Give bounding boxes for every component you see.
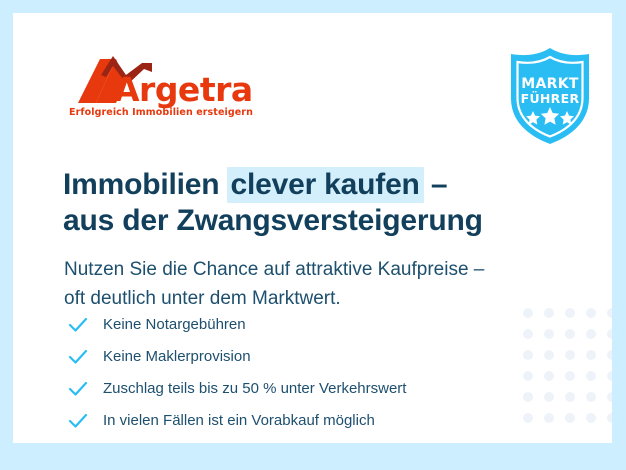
list-item-label: Keine Maklerprovision xyxy=(103,347,251,367)
check-icon xyxy=(68,411,88,431)
subheading: Nutzen Sie die Chance auf attraktive Kau… xyxy=(64,255,584,313)
subheading-line-1: Nutzen Sie die Chance auf attraktive Kau… xyxy=(64,255,584,284)
decorative-dot xyxy=(565,371,575,381)
markt-fuehrer-badge: MARKT FÜHRER xyxy=(505,46,595,146)
list-item: Keine Maklerprovision xyxy=(68,341,538,373)
list-item-label: Zuschlag teils bis zu 50 % unter Verkehr… xyxy=(103,379,406,399)
shield-badge-icon: MARKT FÜHRER xyxy=(505,46,595,146)
logo-wordmark: Argetra xyxy=(114,73,253,106)
decorative-dot xyxy=(607,329,612,339)
decorative-dot xyxy=(586,329,596,339)
badge-line2: FÜHRER xyxy=(521,91,580,106)
decorative-dot xyxy=(586,371,596,381)
decorative-dot xyxy=(544,350,554,360)
list-item: Keine Notargebühren xyxy=(68,309,538,341)
headline-line-2: aus der Zwangsversteigerung xyxy=(63,203,583,239)
headline-pre: Immobilien xyxy=(63,168,228,201)
decorative-dot xyxy=(565,329,575,339)
decorative-dot xyxy=(586,308,596,318)
decorative-dot xyxy=(586,350,596,360)
decorative-dot xyxy=(565,392,575,402)
promo-banner: Argetra Erfolgreich Immobilien ersteiger… xyxy=(0,0,626,470)
decorative-dot xyxy=(607,350,612,360)
decorative-dot xyxy=(607,413,612,423)
decorative-dot xyxy=(544,329,554,339)
banner-card: Argetra Erfolgreich Immobilien ersteiger… xyxy=(13,13,612,443)
decorative-dot xyxy=(586,392,596,402)
headline: Immobilien clever kaufen – aus der Zwang… xyxy=(63,167,583,239)
decorative-dot xyxy=(586,413,596,423)
decorative-dot xyxy=(544,413,554,423)
decorative-dot xyxy=(544,371,554,381)
check-icon xyxy=(68,347,88,367)
headline-post: – xyxy=(423,168,448,201)
decorative-dot xyxy=(607,371,612,381)
benefit-list: Keine Notargebühren Keine Maklerprovisio… xyxy=(68,309,538,437)
argetra-logo[interactable]: Argetra Erfolgreich Immobilien ersteiger… xyxy=(68,53,268,123)
list-item-label: In vielen Fällen ist ein Vorabkauf mögli… xyxy=(103,411,375,431)
decorative-dot xyxy=(607,392,612,402)
badge-line1: MARKT xyxy=(521,76,579,92)
check-icon xyxy=(68,379,88,399)
list-item-label: Keine Notargebühren xyxy=(103,315,246,335)
check-icon xyxy=(68,315,88,335)
decorative-dot xyxy=(565,350,575,360)
logo-tagline: Erfolgreich Immobilien ersteigern xyxy=(69,107,253,118)
list-item: Zuschlag teils bis zu 50 % unter Verkehr… xyxy=(68,373,538,405)
decorative-dot xyxy=(565,413,575,423)
decorative-dot xyxy=(607,308,612,318)
headline-line-1: Immobilien clever kaufen – xyxy=(63,167,583,203)
list-item: In vielen Fällen ist ein Vorabkauf mögli… xyxy=(68,405,538,437)
headline-highlight: clever kaufen xyxy=(227,167,424,203)
decorative-dot xyxy=(544,392,554,402)
